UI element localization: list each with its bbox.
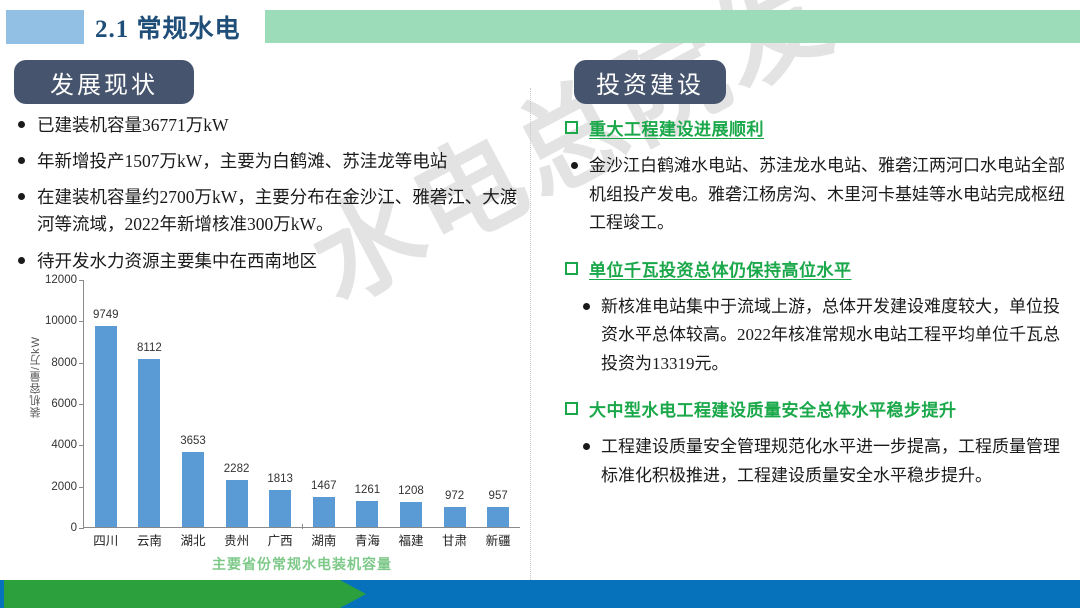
footer-left-edge bbox=[0, 580, 4, 608]
bullet-dot-icon bbox=[18, 257, 25, 264]
header-green-band bbox=[265, 10, 1080, 43]
list-item-text: 待开发水力资源主要集中在西南地区 bbox=[37, 248, 522, 275]
chart-bar-value-label: 1261 bbox=[355, 484, 381, 496]
chart-bar-slot: 957 bbox=[476, 280, 520, 527]
column-divider bbox=[530, 88, 531, 580]
chart-x-tick-mark bbox=[302, 524, 303, 529]
list-item-text: 年新增投产1507万kW，主要为白鹤滩、苏洼龙等电站 bbox=[37, 148, 522, 175]
chart-bar: 1208 bbox=[400, 502, 422, 527]
list-item: 待开发水力资源主要集中在西南地区 bbox=[10, 248, 522, 275]
bullet-dot-icon bbox=[18, 121, 25, 128]
list-item: 金沙江白鹤滩水电站、苏洼龙水电站、雅砻江两河口水电站全部机组投产发电。雅砻江杨房… bbox=[571, 152, 1065, 238]
bullet-dot-icon bbox=[583, 303, 590, 310]
left-column: 已建装机容量36771万kW 年新增投产1507万kW，主要为白鹤滩、苏洼龙等电… bbox=[10, 112, 522, 284]
section-pill-investment-construction: 投资建设 bbox=[574, 60, 726, 104]
chart-bar-value-label: 972 bbox=[445, 490, 464, 502]
chart-y-tick-label: 0 bbox=[37, 522, 77, 534]
chart-bar-slot: 1813 bbox=[258, 280, 302, 527]
hollow-square-icon bbox=[565, 402, 578, 415]
footer-green-chevron bbox=[0, 580, 366, 608]
section-heading: 单位千瓦投资总体仍保持高位水平 bbox=[565, 256, 1065, 281]
chart-x-tick-label: 甘肃 bbox=[433, 530, 477, 549]
chart-y-tick-mark bbox=[79, 528, 84, 529]
chart-bar-slot: 3653 bbox=[171, 280, 215, 527]
list-item-text: 新核准电站集中于流域上游，总体开发建设难度较大，单位投资水平总体较高。2022年… bbox=[601, 293, 1065, 379]
bullet-dot-icon bbox=[571, 162, 578, 169]
chart-bar-value-label: 1467 bbox=[311, 480, 337, 492]
right-column: 重大工程建设进展顺利 金沙江白鹤滩水电站、苏洼龙水电站、雅砻江两河口水电站全部机… bbox=[565, 115, 1065, 508]
list-item-text: 金沙江白鹤滩水电站、苏洼龙水电站、雅砻江两河口水电站全部机组投产发电。雅砻江杨房… bbox=[589, 152, 1065, 238]
chart-bar-slot: 1467 bbox=[302, 280, 346, 527]
section-heading-text: 单位千瓦投资总体仍保持高位水平 bbox=[589, 256, 1065, 281]
chart-bar-value-label: 957 bbox=[489, 490, 508, 502]
chart-x-ticks: 四川云南湖北贵州广西湖南青海福建甘肃新疆 bbox=[84, 530, 520, 549]
chart-y-tick-label: 8000 bbox=[37, 357, 77, 369]
list-item: 在建装机容量约2700万kW，主要分布在金沙江、雅砻江、大渡河等流域，2022年… bbox=[10, 184, 522, 238]
slide-footer bbox=[0, 580, 1080, 608]
page-title: 2.1 常规水电 bbox=[95, 9, 241, 45]
list-item-text: 已建装机容量36771万kW bbox=[37, 112, 522, 139]
chart-bar: 1261 bbox=[356, 501, 378, 527]
chart-x-tick-label: 湖北 bbox=[171, 530, 215, 549]
chart-y-tick-label: 12000 bbox=[37, 274, 77, 286]
section-heading-text: 大中型水电工程建设质量安全总体水平稳步提升 bbox=[589, 396, 1065, 421]
chart-x-tick-label: 云南 bbox=[128, 530, 172, 549]
chart-bar-value-label: 9749 bbox=[93, 309, 119, 321]
chart-x-tick-label: 青海 bbox=[346, 530, 390, 549]
chart-bar-value-label: 2282 bbox=[224, 463, 250, 475]
chart-bar-slot: 2282 bbox=[215, 280, 259, 527]
chart-bar: 3653 bbox=[182, 452, 204, 527]
slide-root: 水电总院发 2.1 常规水电 发展现状 投资建设 已建装机容量36771万kW … bbox=[0, 0, 1080, 608]
bullet-dot-icon bbox=[18, 193, 25, 200]
chart-bar: 972 bbox=[444, 507, 466, 527]
chart-y-tick-label: 2000 bbox=[37, 481, 77, 493]
chart-bar-value-label: 1208 bbox=[398, 485, 424, 497]
list-item: 年新增投产1507万kW，主要为白鹤滩、苏洼龙等电站 bbox=[10, 148, 522, 175]
chart-bar-slot: 972 bbox=[433, 280, 477, 527]
chart-bar-value-label: 3653 bbox=[180, 435, 206, 447]
chart-bar-value-label: 1813 bbox=[267, 473, 293, 485]
chart-bar: 8112 bbox=[138, 359, 160, 527]
bar-chart: 装机容量/万kW 020004000600080001000012000 974… bbox=[30, 272, 520, 572]
chart-bar-slot: 1261 bbox=[346, 280, 390, 527]
list-item-text: 在建装机容量约2700万kW，主要分布在金沙江、雅砻江、大渡河等流域，2022年… bbox=[37, 184, 522, 238]
chart-bar-value-label: 8112 bbox=[137, 342, 162, 354]
chart-bar-slot: 8112 bbox=[128, 280, 172, 527]
chart-bar-slot: 9749 bbox=[84, 280, 128, 527]
hollow-square-icon bbox=[565, 121, 578, 134]
chart-bars: 97498112365322821813146712611208972957 bbox=[84, 280, 520, 527]
hollow-square-icon bbox=[565, 262, 578, 275]
chart-caption: 主要省份常规水电装机容量 bbox=[84, 554, 520, 574]
section-heading: 重大工程建设进展顺利 bbox=[565, 115, 1065, 140]
chart-x-tick-label: 新疆 bbox=[476, 530, 520, 549]
list-item: 已建装机容量36771万kW bbox=[10, 112, 522, 139]
bullet-dot-icon bbox=[18, 157, 25, 164]
chart-bar: 9749 bbox=[95, 326, 117, 527]
chart-x-tick-label: 湖南 bbox=[302, 530, 346, 549]
slide-header: 2.1 常规水电 bbox=[0, 0, 1080, 52]
list-item-text: 工程建设质量安全管理规范化水平进一步提高，工程质量管理标准化积极推进，工程建设质… bbox=[601, 433, 1065, 490]
chart-plot-area: 020004000600080001000012000 974981123653… bbox=[83, 280, 520, 528]
chart-bar-slot: 1208 bbox=[389, 280, 433, 527]
chart-x-tick-label: 贵州 bbox=[215, 530, 259, 549]
chart-bar: 1467 bbox=[313, 497, 335, 527]
section-pill-development-status: 发展现状 bbox=[14, 60, 194, 104]
list-item: 工程建设质量安全管理规范化水平进一步提高，工程质量管理标准化积极推进，工程建设质… bbox=[583, 433, 1065, 490]
chart-x-tick-label: 福建 bbox=[389, 530, 433, 549]
header-color-swatch bbox=[6, 10, 84, 44]
section-heading-text: 重大工程建设进展顺利 bbox=[589, 115, 1065, 140]
chart-x-tick-label: 四川 bbox=[84, 530, 128, 549]
chart-bar: 1813 bbox=[269, 490, 291, 527]
chart-bar: 957 bbox=[487, 507, 509, 527]
chart-x-tick-label: 广西 bbox=[258, 530, 302, 549]
bullet-dot-icon bbox=[583, 443, 590, 450]
chart-bar: 2282 bbox=[226, 480, 248, 527]
chart-y-tick-label: 6000 bbox=[37, 398, 77, 410]
chart-y-tick-label: 4000 bbox=[37, 439, 77, 451]
list-item: 新核准电站集中于流域上游，总体开发建设难度较大，单位投资水平总体较高。2022年… bbox=[583, 293, 1065, 379]
section-heading: 大中型水电工程建设质量安全总体水平稳步提升 bbox=[565, 396, 1065, 421]
chart-y-tick-label: 10000 bbox=[37, 315, 77, 327]
